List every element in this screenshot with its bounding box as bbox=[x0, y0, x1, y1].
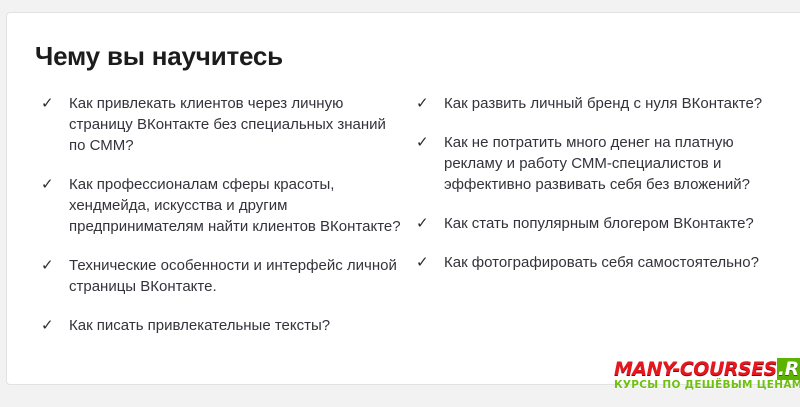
list-item: ✓ Технические особенности и интерфейс ли… bbox=[35, 255, 402, 297]
check-icon: ✓ bbox=[35, 315, 69, 336]
check-icon: ✓ bbox=[410, 93, 444, 114]
watermark-tld: .RU bbox=[777, 358, 800, 380]
outcomes-column-right: ✓ Как развить личный бренд с нуля ВКонта… bbox=[410, 93, 795, 291]
check-icon: ✓ bbox=[35, 255, 69, 276]
list-item: ✓ Как стать популярным блогером ВКонтакт… bbox=[410, 213, 795, 234]
check-icon: ✓ bbox=[35, 174, 69, 195]
list-item-label: Как не потратить много денег на платную … bbox=[444, 132, 795, 195]
list-item-label: Как фотографировать себя самостоятельно? bbox=[444, 252, 795, 273]
outcomes-column-left: ✓ Как привлекать клиентов через личную с… bbox=[35, 93, 410, 354]
list-item: ✓ Как фотографировать себя самостоятельн… bbox=[410, 252, 795, 273]
watermark-tagline: КУРСЫ ПО ДЕШЁВЫМ ЦЕНАМ bbox=[614, 379, 792, 392]
check-icon: ✓ bbox=[410, 252, 444, 273]
learning-outcomes-card: Чему вы научитесь ✓ Как привлекать клиен… bbox=[6, 12, 800, 385]
list-item-label: Как писать привлекательные тексты? bbox=[69, 315, 402, 336]
list-item: ✓ Как привлекать клиентов через личную с… bbox=[35, 93, 402, 156]
list-item: ✓ Как развить личный бренд с нуля ВКонта… bbox=[410, 93, 795, 114]
watermark-logo: MANY-COURSES.RU bbox=[614, 359, 792, 379]
list-item: ✓ Как не потратить много денег на платну… bbox=[410, 132, 795, 195]
list-item-label: Как развить личный бренд с нуля ВКонтакт… bbox=[444, 93, 795, 114]
list-item: ✓ Как писать привлекательные тексты? bbox=[35, 315, 402, 336]
list-item: ✓ Как профессионалам сферы красоты, хенд… bbox=[35, 174, 402, 237]
check-icon: ✓ bbox=[410, 132, 444, 153]
check-icon: ✓ bbox=[410, 213, 444, 234]
list-item-label: Как стать популярным блогером ВКонтакте? bbox=[444, 213, 795, 234]
check-icon: ✓ bbox=[35, 93, 69, 114]
outcomes-columns: ✓ Как привлекать клиентов через личную с… bbox=[35, 93, 800, 354]
list-item-label: Как профессионалам сферы красоты, хендме… bbox=[69, 174, 402, 237]
site-watermark: MANY-COURSES.RU КУРСЫ ПО ДЕШЁВЫМ ЦЕНАМ bbox=[614, 359, 792, 392]
page-title: Чему вы научитесь bbox=[35, 41, 283, 72]
list-item-label: Технические особенности и интерфейс личн… bbox=[69, 255, 402, 297]
watermark-name: MANY-COURSES bbox=[614, 358, 777, 380]
list-item-label: Как привлекать клиентов через личную стр… bbox=[69, 93, 402, 156]
